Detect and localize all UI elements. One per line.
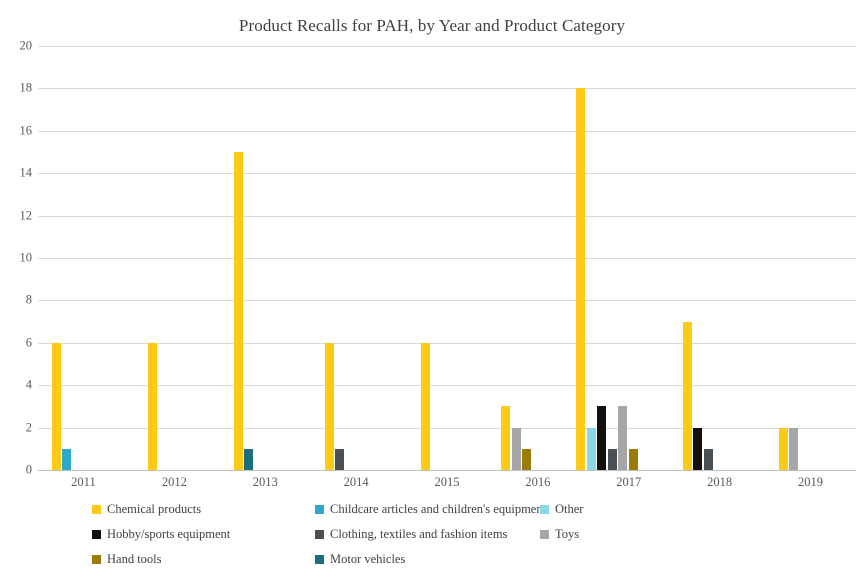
bar-cluster — [129, 46, 220, 470]
x-axis-tick-label: 2016 — [525, 475, 550, 490]
y-axis-tick-label: 6 — [26, 335, 32, 350]
bar — [421, 343, 430, 470]
legend-swatch-icon — [92, 530, 101, 539]
legend-label: Hand tools — [107, 552, 162, 567]
bar — [704, 449, 713, 470]
bar — [62, 449, 71, 470]
bar — [587, 428, 596, 470]
x-axis-tick-label: 2011 — [71, 475, 96, 490]
legend-label: Toys — [555, 527, 579, 542]
legend-item[interactable]: Childcare articles and children's equipm… — [315, 502, 546, 517]
legend-label: Clothing, textiles and fashion items — [330, 527, 507, 542]
bar — [325, 343, 334, 470]
x-axis-tick-label: 2017 — [616, 475, 641, 490]
bar — [576, 88, 585, 470]
legend-swatch-icon — [315, 505, 324, 514]
bar — [608, 449, 617, 470]
bar-cluster — [765, 46, 856, 470]
x-axis-tick-label: 2018 — [707, 475, 732, 490]
bar-cluster — [492, 46, 583, 470]
bar — [52, 343, 61, 470]
legend-swatch-icon — [540, 505, 549, 514]
x-axis-tick-label: 2019 — [798, 475, 823, 490]
plot-area — [38, 46, 856, 470]
y-axis-tick-label: 14 — [20, 166, 33, 181]
legend-label: Motor vehicles — [330, 552, 405, 567]
legend-item[interactable]: Motor vehicles — [315, 552, 405, 567]
legend-item[interactable]: Clothing, textiles and fashion items — [315, 527, 507, 542]
y-axis-tick-label: 18 — [20, 81, 33, 96]
legend-swatch-icon — [540, 530, 549, 539]
bar-cluster — [311, 46, 402, 470]
bar — [148, 343, 157, 470]
bar — [597, 406, 606, 470]
bar — [335, 449, 344, 470]
bar — [618, 406, 627, 470]
legend-swatch-icon — [315, 555, 324, 564]
bar-cluster — [674, 46, 765, 470]
bar-cluster — [402, 46, 493, 470]
legend-swatch-icon — [92, 555, 101, 564]
bar — [629, 449, 638, 470]
y-axis-tick-label: 16 — [20, 123, 33, 138]
legend-swatch-icon — [92, 505, 101, 514]
legend-label: Chemical products — [107, 502, 201, 517]
x-axis-tick-label: 2014 — [344, 475, 369, 490]
bar — [789, 428, 798, 470]
legend-item[interactable]: Hobby/sports equipment — [92, 527, 230, 542]
legend-label: Childcare articles and children's equipm… — [330, 502, 546, 517]
bar-cluster — [583, 46, 674, 470]
chart-container: Product Recalls for PAH, by Year and Pro… — [0, 0, 864, 574]
y-axis-tick-label: 8 — [26, 293, 32, 308]
legend-label: Other — [555, 502, 583, 517]
y-axis-tick-label: 12 — [20, 208, 33, 223]
bar-cluster — [38, 46, 129, 470]
y-axis-tick-label: 0 — [26, 463, 32, 478]
chart-title: Product Recalls for PAH, by Year and Pro… — [0, 16, 864, 36]
y-axis-tick-label: 4 — [26, 378, 32, 393]
x-axis-tick-label: 2012 — [162, 475, 187, 490]
y-axis-tick-labels: 02468101214161820 — [0, 46, 32, 470]
x-axis-tick-label: 2013 — [253, 475, 278, 490]
bar — [779, 428, 788, 470]
legend-item[interactable]: Chemical products — [92, 502, 201, 517]
legend-label: Hobby/sports equipment — [107, 527, 230, 542]
x-axis-tick-labels: 201120122013201420152016201720182019 — [38, 472, 856, 494]
bar — [683, 322, 692, 470]
legend-item[interactable]: Toys — [540, 527, 579, 542]
y-axis-tick-label: 2 — [26, 420, 32, 435]
y-axis-tick-label: 10 — [20, 251, 33, 266]
x-axis-line — [38, 470, 856, 471]
x-axis-tick-label: 2015 — [435, 475, 460, 490]
bar — [693, 428, 702, 470]
y-axis-tick-label: 20 — [20, 39, 33, 54]
bar — [501, 406, 510, 470]
legend-item[interactable]: Hand tools — [92, 552, 162, 567]
bar — [522, 449, 531, 470]
bar — [244, 449, 253, 470]
legend-swatch-icon — [315, 530, 324, 539]
bar — [234, 152, 243, 470]
bar-cluster — [220, 46, 311, 470]
bar — [512, 428, 521, 470]
chart-legend: Chemical productsChildcare articles and … — [92, 502, 792, 568]
legend-item[interactable]: Other — [540, 502, 583, 517]
